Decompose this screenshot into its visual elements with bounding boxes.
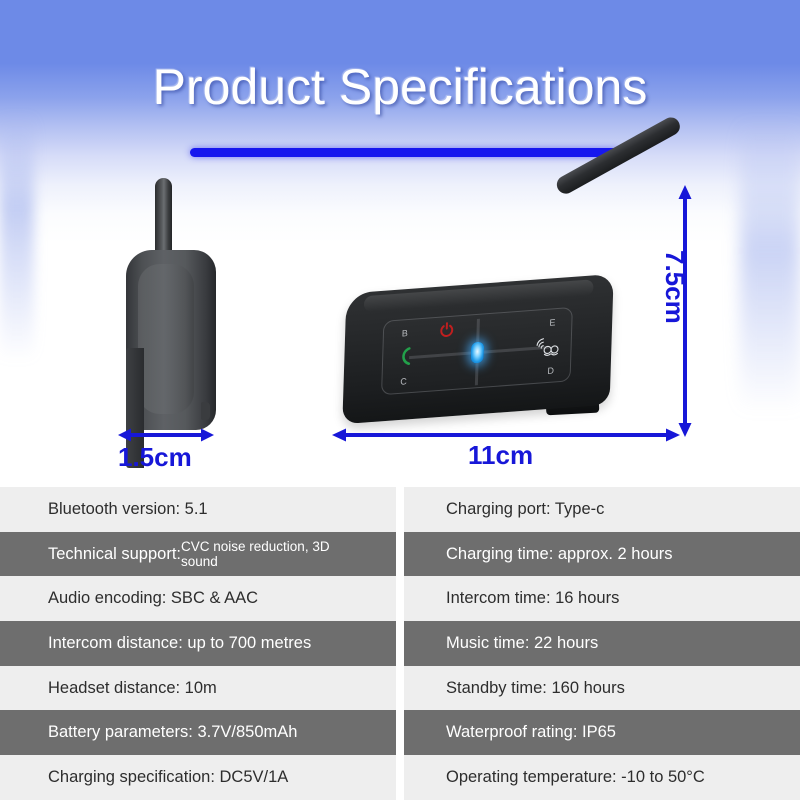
product-spec-page: Product Specifications B E C D — [0, 0, 800, 800]
spec-row: Charging specification: DC5V/1A — [0, 755, 396, 800]
dimension-label-height-main: 7.5cm — [659, 250, 690, 324]
power-icon[interactable] — [440, 322, 454, 338]
dimension-label-width-side: 1.5cm — [118, 442, 192, 473]
specifications-column-left: Bluetooth version: 5.1Technical support:… — [0, 487, 396, 800]
title-underline-bar — [190, 148, 620, 157]
spec-label: Music time: 22 hours — [446, 634, 598, 653]
spec-row: Music time: 22 hours — [404, 621, 800, 666]
phone-icon[interactable] — [397, 347, 415, 366]
spec-label: Technical support: — [48, 545, 181, 564]
spec-row: Intercom time: 16 hours — [404, 576, 800, 621]
control-panel: B E C D — [381, 307, 573, 395]
spec-label: Waterproof rating: IP65 — [446, 723, 616, 742]
spec-row: Intercom distance: up to 700 metres — [0, 621, 396, 666]
spec-label: Charging port: Type-c — [446, 500, 604, 519]
hero-edge-glow-left — [0, 0, 34, 380]
device-main-body: B E C D — [342, 274, 613, 424]
spec-row: Battery parameters: 3.7V/850mAh — [0, 710, 396, 755]
device-side-view — [112, 178, 232, 430]
panel-label-c: C — [400, 376, 407, 387]
status-led — [471, 342, 485, 364]
spec-label: Charging time: approx. 2 hours — [446, 545, 673, 564]
spec-row: Waterproof rating: IP65 — [404, 710, 800, 755]
panel-label-e: E — [549, 317, 555, 327]
dimension-label-width-main: 11cm — [468, 440, 533, 471]
spec-label: Operating temperature: -10 to 50°C — [446, 768, 705, 787]
device-side-body — [126, 250, 216, 430]
spec-row: Bluetooth version: 5.1 — [0, 487, 396, 532]
specifications-table: Bluetooth version: 5.1Technical support:… — [0, 487, 800, 800]
spec-value: CVC noise reduction, 3D sound — [181, 539, 356, 569]
side-button — [201, 402, 210, 420]
panel-label-d: D — [547, 365, 554, 376]
spec-row: Charging port: Type-c — [404, 487, 800, 532]
spec-row: Standby time: 160 hours — [404, 666, 800, 711]
device-main-view: B E C D — [340, 172, 700, 434]
page-title: Product Specifications — [0, 58, 800, 116]
dimension-arrow-width-side — [118, 428, 214, 442]
spec-label: Intercom distance: up to 700 metres — [48, 634, 311, 653]
spec-row: Audio encoding: SBC & AAC — [0, 576, 396, 621]
spec-label: Headset distance: 10m — [48, 679, 217, 698]
intercom-icon[interactable] — [534, 335, 561, 359]
spec-row: Headset distance: 10m — [0, 666, 396, 711]
spec-label: Audio encoding: SBC & AAC — [48, 589, 258, 608]
spec-label: Bluetooth version: 5.1 — [48, 500, 208, 519]
panel-label-b: B — [402, 328, 408, 338]
spec-label: Intercom time: 16 hours — [446, 589, 619, 608]
spec-row: Operating temperature: -10 to 50°C — [404, 755, 800, 800]
spec-row: Charging time: approx. 2 hours — [404, 532, 800, 577]
spec-label: Standby time: 160 hours — [446, 679, 625, 698]
spec-label: Charging specification: DC5V/1A — [48, 768, 288, 787]
specifications-column-right: Charging port: Type-cCharging time: appr… — [404, 487, 800, 800]
spec-label: Battery parameters: 3.7V/850mAh — [48, 723, 297, 742]
spec-row: Technical support: CVC noise reduction, … — [0, 532, 396, 577]
